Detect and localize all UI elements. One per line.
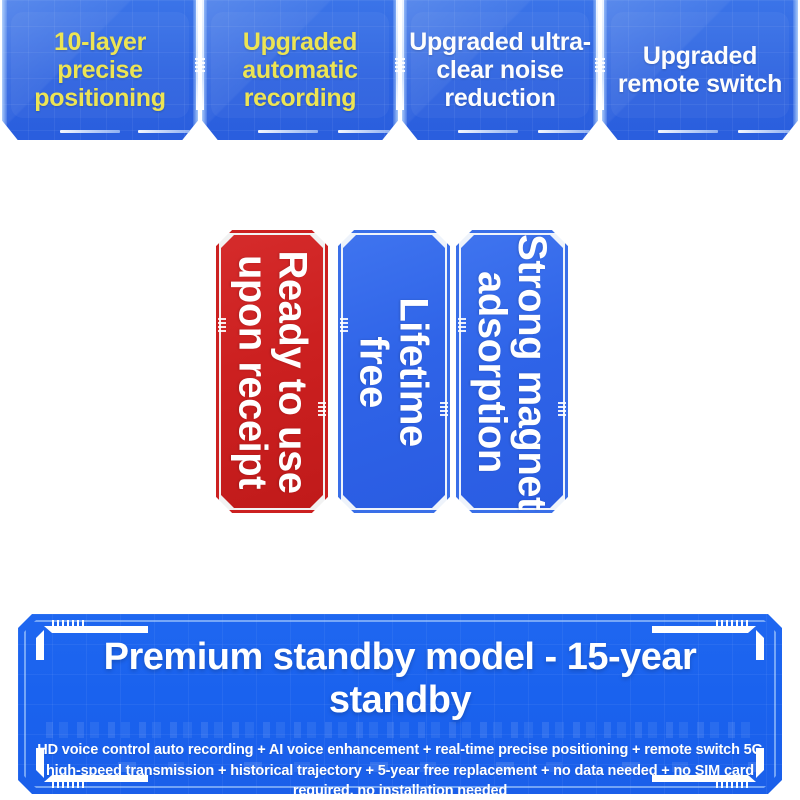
feature-card-label: Upgraded remote switch (602, 42, 798, 98)
badge-label: Strong magnet adsorption (472, 234, 552, 510)
feature-card-label: Upgraded automatic recording (202, 28, 398, 112)
badge-label: Lifetime free (354, 297, 434, 446)
feature-card-label: Upgraded ultra-clear noise reduction (402, 28, 598, 112)
badge-strong-magnet-adsorption[interactable]: Strong magnet adsorption (456, 230, 568, 513)
feature-card-3[interactable]: Upgraded remote switch (602, 0, 798, 140)
badge-label: Ready to use upon receipt (232, 250, 312, 493)
feature-card-0[interactable]: 10-layer precise positioning (2, 0, 198, 140)
feature-card-row: 10-layer precise positioning Upgraded au… (0, 0, 800, 140)
feature-card-label: 10-layer precise positioning (2, 28, 198, 112)
badge-lifetime-free[interactable]: Lifetime free (338, 230, 450, 513)
banner-ghost-artifact (46, 722, 754, 738)
badge-ready-to-use[interactable]: Ready to use upon receipt (216, 230, 328, 513)
feature-card-1[interactable]: Upgraded automatic recording (202, 0, 398, 140)
banner-subtitle: HD voice control auto recording + AI voi… (34, 740, 766, 794)
promo-banner: Premium standby model - 15-year standby … (18, 614, 782, 794)
banner-title: Premium standby model - 15-year standby (58, 636, 742, 721)
feature-card-2[interactable]: Upgraded ultra-clear noise reduction (402, 0, 598, 140)
badge-group: Ready to use upon receipt Lifetime free … (0, 228, 800, 518)
